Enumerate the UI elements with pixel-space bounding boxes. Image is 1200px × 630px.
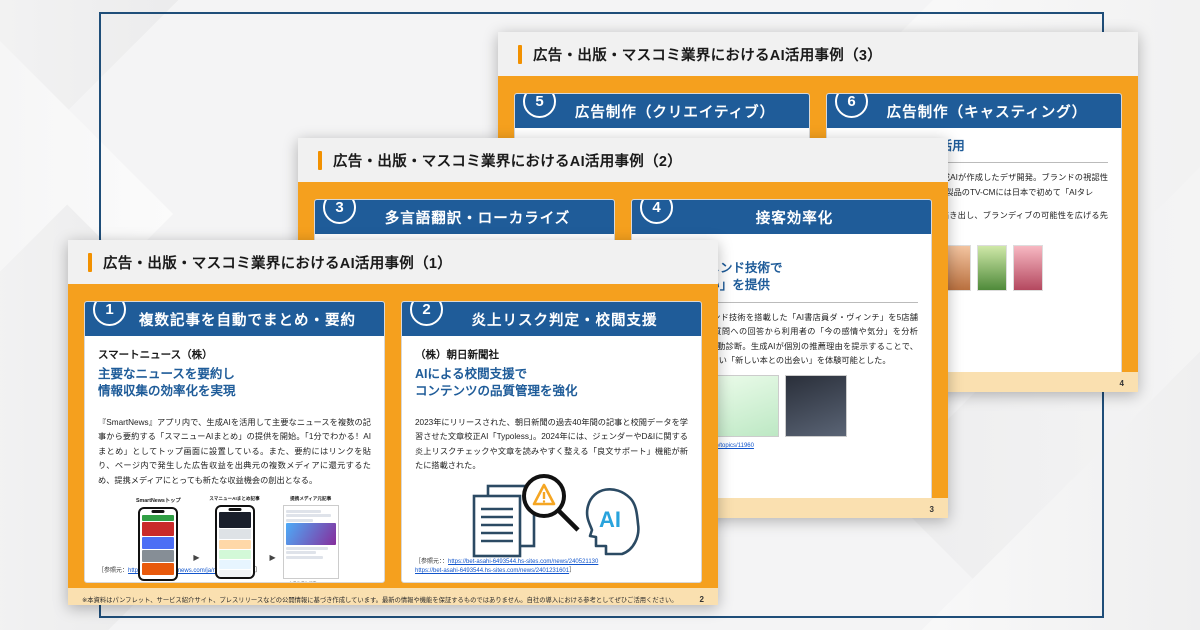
slide-1-footnote-bar: ※本資料はパンフレット、サービス紹介サイト、プレスリリースなどの公開情報に基づき…: [68, 588, 718, 605]
arrow-icon: ▶: [270, 553, 276, 562]
phone-notch: [228, 508, 241, 511]
slide-2-page-number: 3: [930, 505, 934, 514]
card-3-header: 3 多言語翻訳・ローカライズ: [315, 200, 614, 234]
card-2-reference-label: ［参照元：：: [415, 559, 448, 565]
card-1[interactable]: 1 複数記事を自動でまとめ・要約 スマートニュース（株） 主要なニュースを要約し…: [84, 301, 385, 583]
card-4-header: 4 接客効率化: [632, 200, 931, 234]
slide-1-body: 1 複数記事を自動でまとめ・要約 スマートニュース（株） 主要なニュースを要約し…: [68, 284, 718, 605]
slide-1-title: 広告・出版・マスコミ業界におけるAI活用事例（1）: [103, 252, 452, 273]
phone-mockup: [215, 505, 255, 579]
card-6-header: 6 広告制作（キャスティング）: [827, 94, 1121, 128]
card-1-reference-label: ［参照元：: [98, 568, 128, 574]
slide-3-page-number: 4: [1120, 379, 1124, 388]
card-1-body: 『SmartNews』アプリ内で、生成AIを活用して主要なニュースを複数の記事か…: [98, 416, 371, 489]
card-2-reference-close: ］: [569, 568, 575, 574]
title-accent-bar: [518, 45, 522, 64]
slide-1-footnote: ※本資料はパンフレット、サービス紹介サイト、プレスリリースなどの公開情報に基づき…: [82, 595, 678, 604]
card-3-number: 3: [323, 199, 356, 224]
card-2[interactable]: 2 炎上リスク判定・校閲支援 （株）朝日新聞社 AIによる校閲支援で コンテンツ…: [401, 301, 702, 583]
slide-3-header: 広告・出版・マスコミ業界におけるAI活用事例（3）: [498, 32, 1138, 76]
card-2-headline-1: AIによる校閲支援で: [415, 366, 688, 383]
slide-2-title: 広告・出版・マスコミ業界におけるAI活用事例（2）: [333, 150, 682, 171]
slide-1-header: 広告・出版・マスコミ業界におけるAI活用事例（1）: [68, 240, 718, 284]
card-6-title: 広告制作（キャスティング）: [861, 101, 1088, 122]
card-2-reference[interactable]: ［参照元：：https://bet-asahi-6493544.hs-sites…: [402, 556, 701, 582]
portrait-thumb: [977, 245, 1007, 291]
card-2-body: 2023年にリリースされた、朝日新聞の過去40年間の記事と校閲データを学習させた…: [415, 416, 688, 474]
card-1-content: スマートニュース（株） 主要なニュースを要約し 情報収集の効率化を実現 『Sma…: [85, 336, 384, 565]
card-2-title: 炎上リスク判定・校閲支援: [446, 309, 658, 330]
card-2-reference-link-1[interactable]: https://bet-asahi-6493544.hs-sites.com/n…: [448, 559, 598, 565]
card-2-number: 2: [410, 301, 443, 326]
card-2-headline-2: コンテンツの品質管理を強化: [415, 383, 688, 400]
card-5-header: 5 広告制作（クリエイティブ）: [515, 94, 809, 128]
slide-2-header: 広告・出版・マスコミ業界におけるAI活用事例（2）: [298, 138, 948, 182]
card-2-reference-link-2[interactable]: https://bet-asahi-6493544.hs-sites.com/n…: [415, 568, 569, 574]
slide-1-page-number: 2: [700, 595, 704, 604]
screenshot-thumb: [785, 375, 847, 437]
ai-label: AI: [599, 507, 621, 532]
phone-mockup: [138, 507, 178, 581]
arrow-icon: ▶: [193, 553, 199, 562]
card-2-content: （株）朝日新聞社 AIによる校閲支援で コンテンツの品質管理を強化 2023年に…: [402, 336, 701, 556]
slide-3-title: 広告・出版・マスコミ業界におけるAI活用事例（3）: [533, 44, 882, 65]
card-1-company: スマートニュース（株）: [98, 347, 371, 362]
thumbnail-caption: SmartNewsトップ: [136, 496, 181, 504]
card-3-title: 多言語翻訳・ローカライズ: [359, 207, 571, 228]
card-2-header: 2 炎上リスク判定・校閲支援: [402, 302, 701, 336]
card-1-headline-1: 主要なニュースを要約し: [98, 366, 371, 383]
title-accent-bar: [318, 151, 322, 170]
card-2-company: （株）朝日新聞社: [415, 347, 688, 362]
card-1-reference-close: ］: [255, 568, 261, 574]
magnifier-handle: [558, 510, 578, 530]
card-1-headline-2: 情報収集の効率化を実現: [98, 383, 371, 400]
title-accent-bar: [88, 253, 92, 272]
card-1-title: 複数記事を自動でまとめ・要約: [113, 309, 356, 330]
card-1-header: 1 複数記事を自動でまとめ・要約: [85, 302, 384, 336]
card-4-number: 4: [640, 199, 673, 224]
card-5-title: 広告制作（クリエイティブ）: [549, 101, 775, 122]
slide-1[interactable]: 広告・出版・マスコミ業界におけるAI活用事例（1） 1 複数記事を自動でまとめ・…: [68, 240, 718, 605]
thumbnail-caption: 提携メディア元記事: [290, 496, 331, 502]
portrait-thumb: [1013, 245, 1043, 291]
thumbnail-caption: スマニューAIまとめ記事: [209, 496, 259, 502]
phone-notch: [152, 510, 165, 513]
screenshot-thumb: [717, 375, 779, 437]
card-4-title: 接客効率化: [730, 207, 834, 228]
